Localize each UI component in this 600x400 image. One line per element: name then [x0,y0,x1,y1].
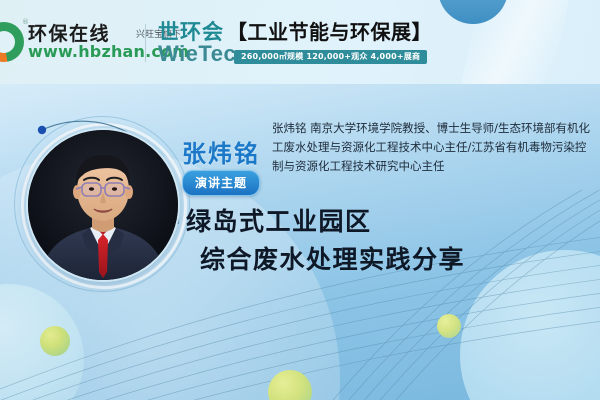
talk-topic-badge: 演讲主题 [182,170,260,196]
speaker-bio: 张炜铭 南京大学环境学院教授、博士生导师/生态环境部有机化工废水处理与资源化工程… [272,119,594,176]
wietec-name-en: WieTec [158,41,236,67]
talk-title-line-2: 综合废水处理实践分享 [200,241,586,279]
decorative-sphere-lime-3 [437,314,461,338]
header-divider [145,24,146,62]
talk-title: 绿岛式工业园区 综合废水处理实践分享 [186,203,586,279]
speaker-poster: ® 环保在线 兴旺宝旗下 www.hbzhan.com 世环会 【工业节能与环保… [0,0,600,400]
speaker-portrait-illustration [28,130,178,280]
speaker-photo-group [26,128,176,278]
wietec-event-logo: 世环会 【工业节能与环保展】 WieTec 260,000㎡规模 120,000… [158,16,588,72]
wietec-subtitle: 【工业节能与环保展】 [227,16,432,45]
poster-header: ® 环保在线 兴旺宝旗下 www.hbzhan.com 世环会 【工业节能与环保… [0,0,600,84]
talk-title-line-1: 绿岛式工业园区 [186,203,586,241]
hbzhan-logo-icon [0,22,24,62]
speaker-name: 张炜铭 [182,134,260,169]
decorative-sphere-lime-1 [40,326,70,356]
decorative-sphere-lime-2 [268,370,312,400]
speaker-avatar [26,128,180,282]
hbzhan-logo[interactable]: ® 环保在线 兴旺宝旗下 www.hbzhan.com [0,18,142,68]
wietec-stats-bar: 260,000㎡规模 120,000+观众 4,000+展商 [234,50,427,64]
